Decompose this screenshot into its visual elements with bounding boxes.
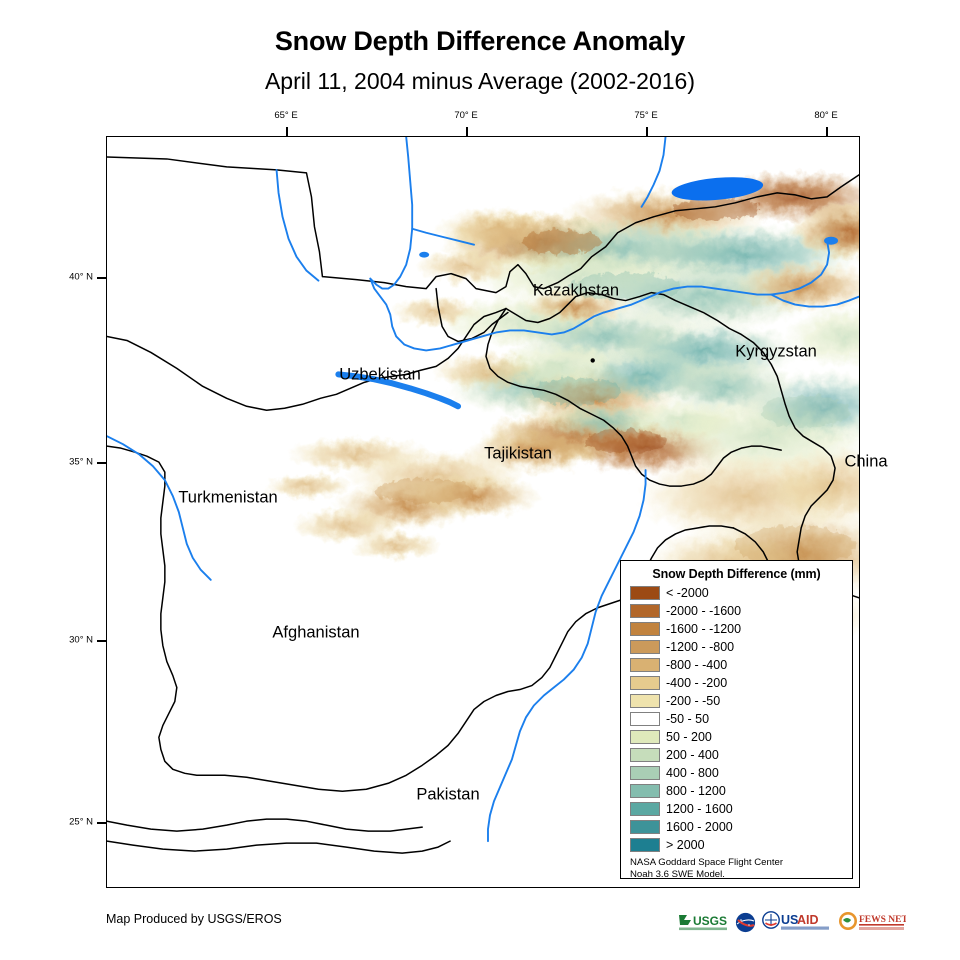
legend-row[interactable]: 1200 - 1600 <box>621 800 852 818</box>
country-label-turkmenistan: Turkmenistan <box>178 489 277 508</box>
footer-credit: Map Produced by USGS/EROS <box>106 912 282 926</box>
legend-panel[interactable]: Snow Depth Difference (mm) < -2000 -2000… <box>620 560 853 879</box>
nasa-logo[interactable] <box>735 911 756 933</box>
y-tick-mark <box>97 277 106 279</box>
country-label-uzbekistan: Uzbekistan <box>339 366 421 385</box>
legend-row[interactable]: > 2000 <box>621 836 852 854</box>
legend-row[interactable]: -800 - -400 <box>621 656 852 674</box>
country-label-kazakhstan: Kazakhstan <box>533 282 619 301</box>
x-tick-mark <box>466 127 468 136</box>
country-label-tajikistan: Tajikistan <box>484 445 552 464</box>
svg-text:AID: AID <box>797 913 819 927</box>
legend-label: -50 - 50 <box>666 712 709 726</box>
legend-credit-line1: NASA Goddard Space Flight Center <box>630 857 852 869</box>
legend-swatch <box>630 820 660 834</box>
svg-text:FEWS NET: FEWS NET <box>859 915 906 925</box>
legend-row[interactable]: 50 - 200 <box>621 728 852 746</box>
country-label-pakistan: Pakistan <box>416 786 479 805</box>
legend-label: 1600 - 2000 <box>666 820 733 834</box>
legend-row[interactable]: 400 - 800 <box>621 764 852 782</box>
legend-row[interactable]: < -2000 <box>621 584 852 602</box>
y-tick-mark <box>97 462 106 464</box>
legend-label: 800 - 1200 <box>666 784 726 798</box>
legend-row[interactable]: -1200 - -800 <box>621 638 852 656</box>
legend-row[interactable]: 200 - 400 <box>621 746 852 764</box>
legend-row[interactable]: 1600 - 2000 <box>621 818 852 836</box>
country-label-afghanistan: Afghanistan <box>272 624 359 643</box>
legend-row[interactable]: -50 - 50 <box>621 710 852 728</box>
legend-swatch <box>630 676 660 690</box>
legend-swatch <box>630 730 660 744</box>
legend-credit-line2: Noah 3.6 SWE Model. <box>630 869 852 881</box>
y-tick-label: 35° N <box>69 457 93 468</box>
legend-label: -2000 - -1600 <box>666 604 741 618</box>
legend-swatch <box>630 622 660 636</box>
legend-swatch <box>630 748 660 762</box>
legend-swatch <box>630 694 660 708</box>
legend-swatch <box>630 712 660 726</box>
legend-row[interactable]: -200 - -50 <box>621 692 852 710</box>
country-label-china: China <box>844 453 887 472</box>
svg-text:US: US <box>781 913 798 927</box>
x-tick-mark <box>826 127 828 136</box>
legend-label: < -2000 <box>666 586 709 600</box>
legend-title: Snow Depth Difference (mm) <box>621 567 852 581</box>
legend-label: 200 - 400 <box>666 748 719 762</box>
legend-label: -400 - -200 <box>666 676 727 690</box>
page-title: Snow Depth Difference Anomaly <box>0 26 960 57</box>
city-dot <box>591 358 595 362</box>
legend-swatch <box>630 838 660 852</box>
legend-swatch <box>630 802 660 816</box>
page-subtitle: April 11, 2004 minus Average (2002-2016) <box>0 68 960 95</box>
fewsnet-logo[interactable]: FEWS NET <box>838 911 906 933</box>
legend-label: -1200 - -800 <box>666 640 734 654</box>
svg-text:USGS: USGS <box>693 914 727 928</box>
legend-label: 50 - 200 <box>666 730 712 744</box>
y-tick-label: 25° N <box>69 817 93 828</box>
x-tick-mark <box>646 127 648 136</box>
x-tick-label: 65° E <box>274 110 297 121</box>
legend-label: 400 - 800 <box>666 766 719 780</box>
legend-row[interactable]: -1600 - -1200 <box>621 620 852 638</box>
legend-label: -1600 - -1200 <box>666 622 741 636</box>
x-tick-mark <box>286 127 288 136</box>
x-tick-label: 75° E <box>634 110 657 121</box>
legend-swatch <box>630 766 660 780</box>
legend-label: -200 - -50 <box>666 694 720 708</box>
y-tick-label: 30° N <box>69 635 93 646</box>
agency-logos: USGS US AID FEWS NET <box>678 909 906 935</box>
legend-row[interactable]: -400 - -200 <box>621 674 852 692</box>
y-tick-mark <box>97 822 106 824</box>
legend-swatch <box>630 640 660 654</box>
y-tick-label: 40° N <box>69 272 93 283</box>
usaid-logo[interactable]: US AID <box>761 911 833 933</box>
x-tick-label: 80° E <box>814 110 837 121</box>
usgs-logo[interactable]: USGS <box>678 911 730 933</box>
country-label-kyrgyzstan: Kyrgyzstan <box>735 343 817 362</box>
legend-swatch <box>630 658 660 672</box>
legend-swatch <box>630 784 660 798</box>
legend-label: 1200 - 1600 <box>666 802 733 816</box>
legend-label: -800 - -400 <box>666 658 727 672</box>
y-tick-mark <box>97 640 106 642</box>
legend-row[interactable]: 800 - 1200 <box>621 782 852 800</box>
legend-swatch <box>630 586 660 600</box>
legend-label: > 2000 <box>666 838 705 852</box>
legend-row[interactable]: -2000 - -1600 <box>621 602 852 620</box>
legend-credit: NASA Goddard Space Flight Center Noah 3.… <box>621 854 852 881</box>
legend-swatch <box>630 604 660 618</box>
x-tick-label: 70° E <box>454 110 477 121</box>
